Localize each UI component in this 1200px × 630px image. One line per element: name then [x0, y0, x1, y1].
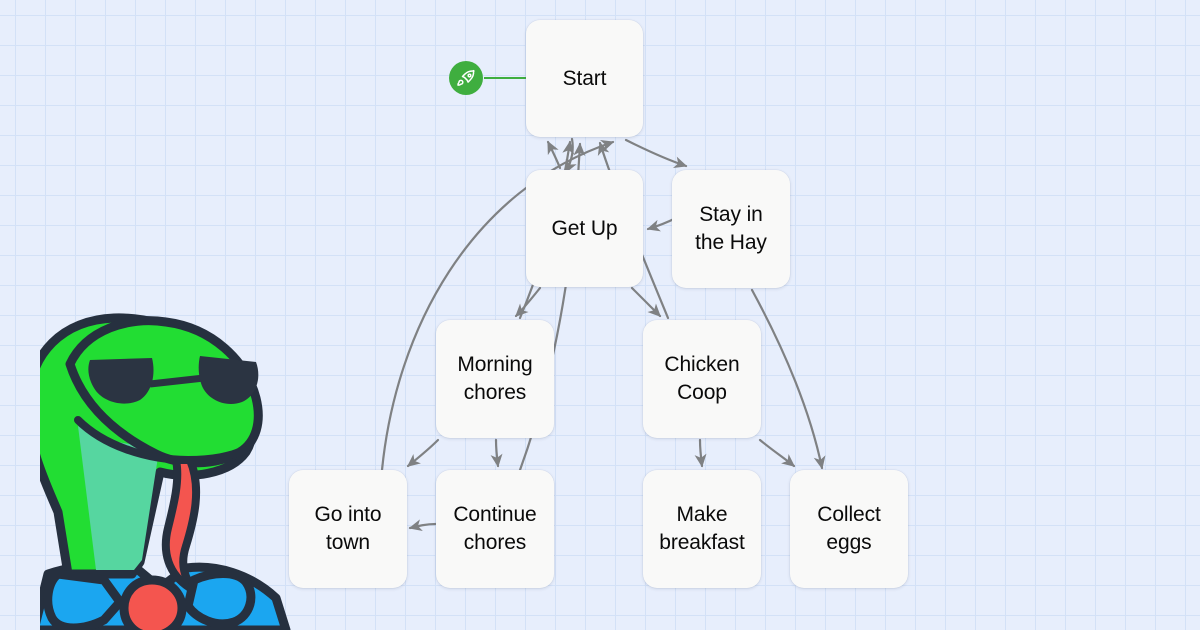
start-connector-line	[484, 77, 528, 79]
edge-start-to-get-up	[566, 139, 573, 172]
mascot-bowtie-knot	[124, 580, 182, 630]
node-morning-chores[interactable]: Morningchores	[436, 320, 554, 438]
edge-chicken-coop-to-collect-eggs	[760, 440, 794, 466]
edge-get-up-to-start	[548, 142, 560, 168]
snake-mascot	[40, 312, 320, 630]
edge-chicken-coop-to-make-breakfast	[700, 440, 702, 466]
node-collect-eggs[interactable]: Collecteggs	[790, 470, 908, 588]
edge-stay-in-the-hay-to-collect-eggs	[752, 290, 822, 468]
node-label: Collecteggs	[809, 501, 889, 556]
edge-morning-chores-to-go-into-town	[408, 440, 438, 466]
start-marker[interactable]	[449, 61, 483, 95]
edge-start-to-stay-in-the-hay	[626, 140, 686, 166]
edge-get-up-to-morning-chores	[516, 288, 540, 316]
node-stay-in-the-hay[interactable]: Stay inthe Hay	[672, 170, 790, 288]
node-make-breakfast[interactable]: Makebreakfast	[643, 470, 761, 588]
node-start[interactable]: Start	[526, 20, 643, 137]
node-label: Stay inthe Hay	[687, 201, 775, 256]
node-label: ChickenCoop	[656, 351, 747, 406]
node-label: Start	[555, 65, 615, 93]
node-label: Continuechores	[445, 501, 544, 556]
mascot-bowtie-right	[188, 574, 251, 624]
node-continue-chores[interactable]: Continuechores	[436, 470, 554, 588]
edge-morning-chores-to-continue-chores	[496, 440, 498, 466]
node-label: Makebreakfast	[651, 501, 752, 556]
node-chicken-coop[interactable]: ChickenCoop	[643, 320, 761, 438]
edge-continue-chores-to-go-into-town	[410, 524, 436, 528]
mascot-bowtie-left	[48, 574, 120, 628]
node-label: Get Up	[544, 215, 626, 243]
edge-get-up-to-chicken-coop	[632, 288, 660, 316]
flowchart-canvas[interactable]: StartGet UpStay inthe HayMorningchoresCh…	[0, 0, 1200, 630]
node-get-up[interactable]: Get Up	[526, 170, 643, 287]
rocket-icon	[456, 68, 477, 89]
node-label: Morningchores	[449, 351, 540, 406]
